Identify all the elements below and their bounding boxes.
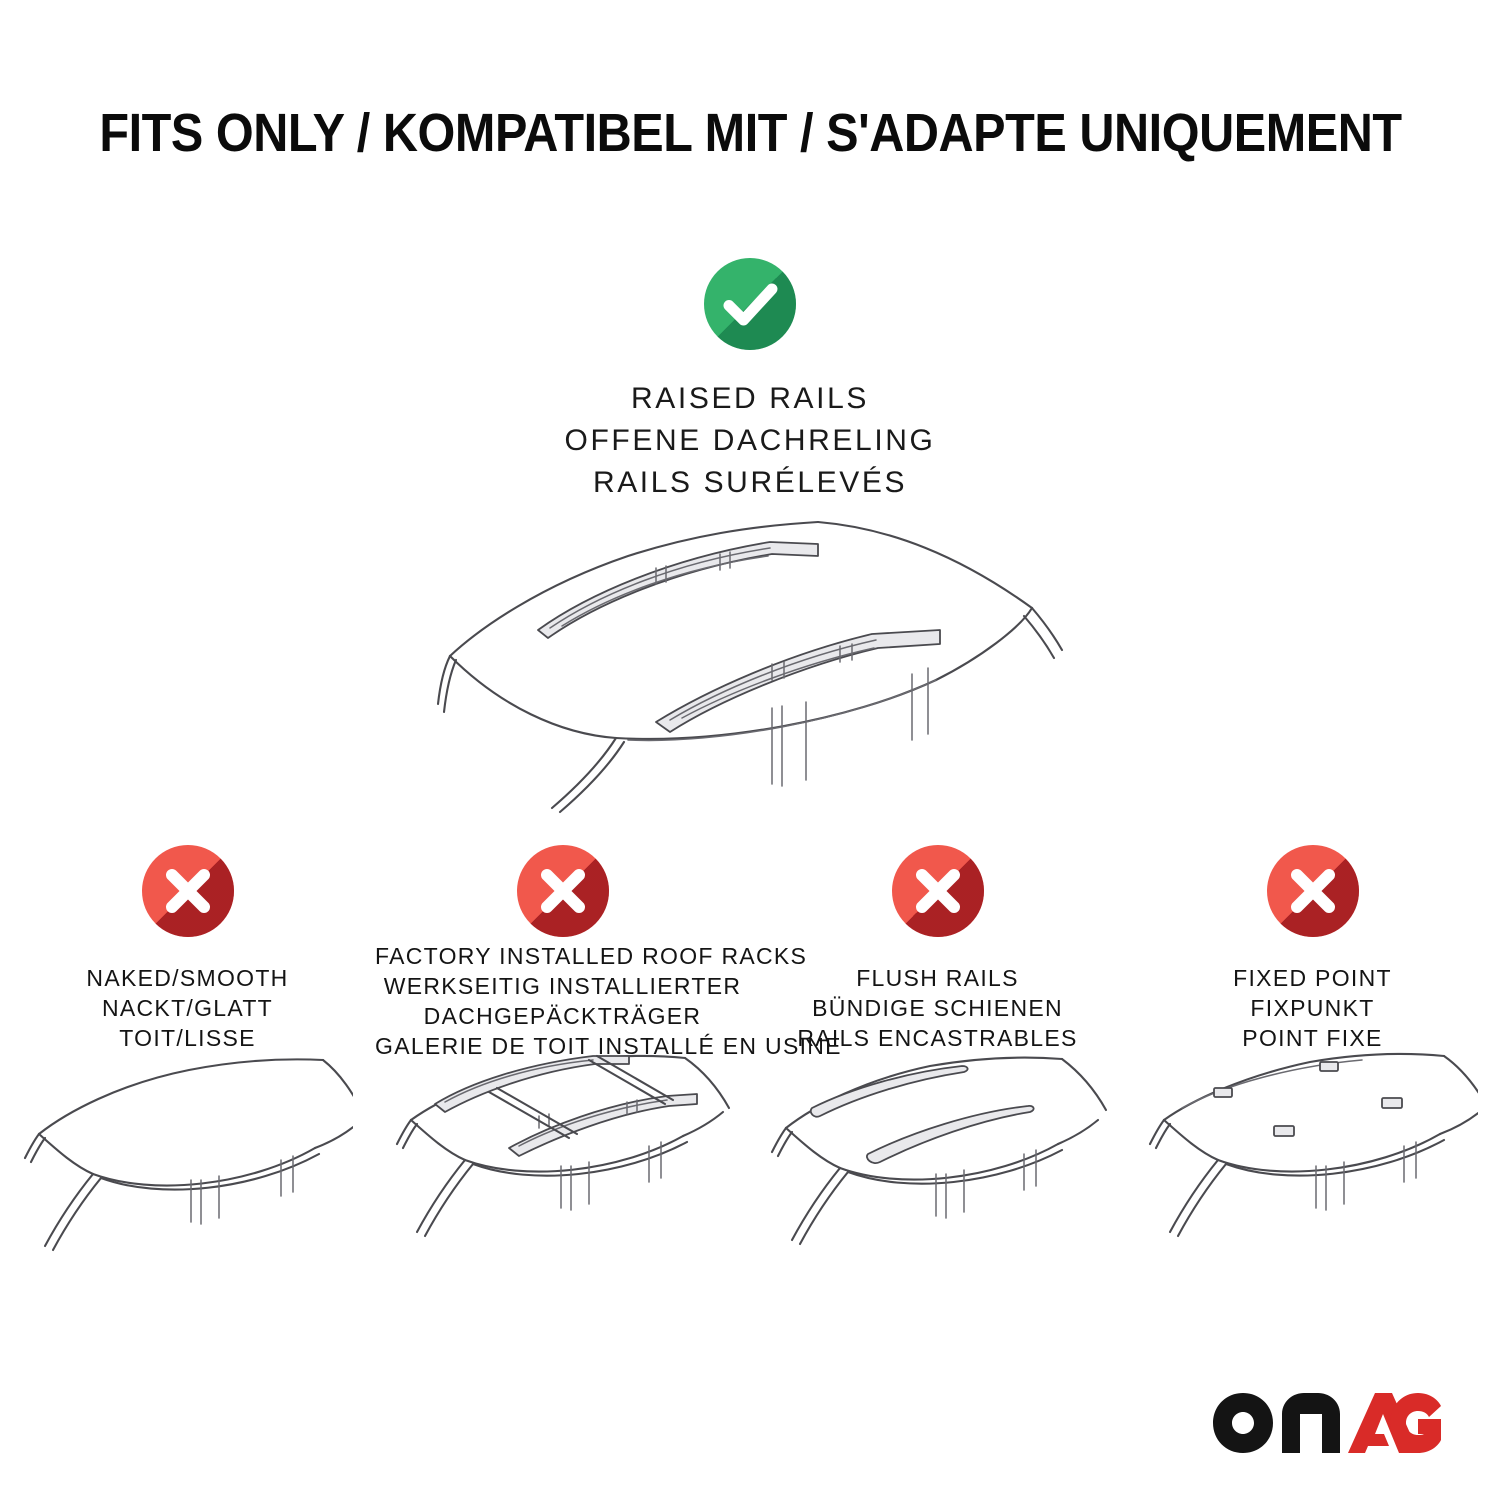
option-label-line1: FIXED POINT	[1125, 963, 1500, 993]
option-labels: NAKED/SMOOTH NACKT/GLATT TOIT/LISSE	[0, 963, 375, 1053]
page-title-text: FITS ONLY / KOMPATIBEL MIT / S'ADAPTE UN…	[99, 104, 1401, 162]
compatible-section: RAISED RAILS OFFENE DACHRELING RAILS SUR…	[0, 258, 1500, 504]
option-label-line3: RAILS ENCASTRABLES	[750, 1023, 1125, 1053]
car-roof-fixed-point	[1125, 1050, 1500, 1270]
compatible-label-de: OFFENE DACHRELING	[0, 420, 1500, 462]
badge-wrap	[1125, 845, 1500, 963]
page-title: FITS ONLY / KOMPATIBEL MIT / S'ADAPTE UN…	[0, 104, 1500, 162]
cross-mark-glyph	[517, 845, 609, 937]
cross-mark-glyph	[892, 845, 984, 937]
car-roof-factory-installed-roof-racks	[375, 1050, 750, 1270]
cross-circle-icon	[892, 845, 984, 937]
incompatible-option-fixed-point: FIXED POINT FIXPUNKT POINT FIXE	[1125, 845, 1500, 963]
labels-wrap: FLUSH RAILS BÜNDIGE SCHIENEN RAILS ENCAS…	[750, 963, 1125, 1053]
option-label-line1: FACTORY INSTALLED ROOF RACKS	[375, 941, 750, 971]
option-label-line3: POINT FIXE	[1125, 1023, 1500, 1053]
badge-wrap	[750, 845, 1125, 963]
fixed-point-artwork	[1148, 1050, 1478, 1265]
option-labels: FIXED POINT FIXPUNKT POINT FIXE	[1125, 963, 1500, 1053]
naked-roof-artwork	[23, 1050, 353, 1265]
labels-wrap: FACTORY INSTALLED ROOF RACKS WERKSEITIG …	[375, 941, 750, 1061]
option-label-line3: TOIT/LISSE	[0, 1023, 375, 1053]
car-roof-with-raised-rails	[0, 508, 1500, 833]
labels-wrap: NAKED/SMOOTH NACKT/GLATT TOIT/LISSE	[0, 963, 375, 1053]
omac-logo-glyph	[1212, 1392, 1442, 1454]
cross-circle-icon	[517, 845, 609, 937]
brand-logo-omac	[1212, 1392, 1442, 1454]
option-label-line3: DACHGEPÄCKTRÄGER	[375, 1001, 750, 1031]
incompatible-option-naked-smooth: NAKED/SMOOTH NACKT/GLATT TOIT/LISSE	[0, 845, 375, 963]
car-roof-naked-smooth	[0, 1050, 375, 1270]
car-roof-flush-rails	[750, 1050, 1125, 1270]
option-label-line2: WERKSEITIG INSTALLIERTER	[375, 971, 750, 1001]
badge-wrap	[0, 845, 375, 963]
compatible-label-en: RAISED RAILS	[0, 378, 1500, 420]
cross-circle-icon	[142, 845, 234, 937]
option-label-line2: BÜNDIGE SCHIENEN	[750, 993, 1125, 1023]
flush-rails-artwork	[768, 1050, 1108, 1265]
cross-mark-glyph	[1267, 845, 1359, 937]
option-labels: FACTORY INSTALLED ROOF RACKS WERKSEITIG …	[375, 941, 750, 1061]
check-circle-icon	[704, 258, 796, 350]
option-label-line1: FLUSH RAILS	[750, 963, 1125, 993]
check-mark-glyph	[704, 258, 796, 350]
incompatible-option-flush-rails: FLUSH RAILS BÜNDIGE SCHIENEN RAILS ENCAS…	[750, 845, 1125, 963]
compatible-label-fr: RAILS SURÉLEVÉS	[0, 462, 1500, 504]
cross-circle-icon	[1267, 845, 1359, 937]
compatible-labels: RAISED RAILS OFFENE DACHRELING RAILS SUR…	[0, 378, 1500, 504]
option-labels: FLUSH RAILS BÜNDIGE SCHIENEN RAILS ENCAS…	[750, 963, 1125, 1053]
option-label-line2: FIXPUNKT	[1125, 993, 1500, 1023]
factory-racks-artwork	[393, 1050, 733, 1265]
cross-mark-glyph	[142, 845, 234, 937]
raised-rails-artwork	[420, 508, 1080, 828]
option-label-line2: NACKT/GLATT	[0, 993, 375, 1023]
incompatible-option-factory-roof-racks: FACTORY INSTALLED ROOF RACKS WERKSEITIG …	[375, 845, 750, 963]
option-label-line1: NAKED/SMOOTH	[0, 963, 375, 993]
incompatible-section: NAKED/SMOOTH NACKT/GLATT TOIT/LISSE	[0, 845, 1500, 963]
labels-wrap: FIXED POINT FIXPUNKT POINT FIXE	[1125, 963, 1500, 1053]
